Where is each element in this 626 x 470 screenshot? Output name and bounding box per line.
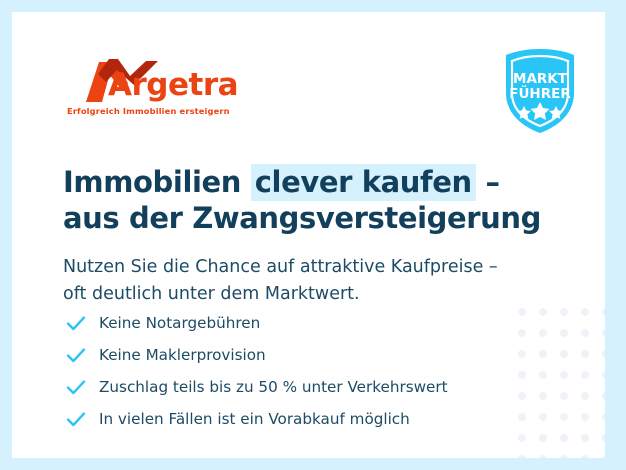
decorative-dot: [602, 434, 605, 442]
headline-text-after: –: [476, 165, 500, 199]
decorative-dot: [602, 455, 605, 458]
decorative-dot: [539, 329, 547, 337]
list-item: Keine Maklerprovision: [66, 341, 526, 369]
decorative-dot: [581, 455, 589, 458]
subheadline-line-2: oft deutlich unter dem Marktwert.: [63, 281, 573, 308]
decorative-dot: [560, 371, 568, 379]
shield-badge-icon: MARKT FÜHRER: [501, 47, 579, 135]
subheadline-line-1: Nutzen Sie die Chance auf attraktive Kau…: [63, 254, 573, 281]
list-item-label: In vielen Fällen ist ein Vorabkauf mögli…: [92, 410, 410, 428]
list-item-label: Keine Notargebühren: [92, 314, 260, 332]
decorative-dot: [560, 434, 568, 442]
decorative-dot: [581, 413, 589, 421]
headline-highlight: clever kaufen: [251, 164, 476, 201]
decorative-dot: [581, 350, 589, 358]
decorative-dot: [560, 329, 568, 337]
decorative-dot: [581, 392, 589, 400]
argetra-wordmark: Argetra: [108, 70, 238, 101]
page-title: Immobilien clever kaufen – aus der Zwang…: [63, 165, 563, 236]
decorative-dot: [602, 350, 605, 358]
decorative-dot: [602, 371, 605, 379]
list-item: Zuschlag teils bis zu 50 % unter Verkehr…: [66, 373, 526, 401]
decorative-dot: [518, 455, 526, 458]
decorative-dot: [581, 308, 589, 316]
decorative-dot: [581, 371, 589, 379]
list-item: Keine Notargebühren: [66, 309, 526, 337]
decorative-dot: [539, 413, 547, 421]
decorative-dot: [560, 455, 568, 458]
promo-banner: Argetra Erfolgreich Immobilien ersteiger…: [0, 0, 626, 470]
dot-pattern-decoration: [518, 308, 605, 458]
check-icon: [66, 315, 92, 332]
decorative-dot: [602, 329, 605, 337]
argetra-logo[interactable]: Argetra Erfolgreich Immobilien ersteiger…: [66, 56, 266, 118]
decorative-dot: [560, 350, 568, 358]
headline-line-2: aus der Zwangsversteigerung: [63, 201, 563, 236]
decorative-dot: [602, 392, 605, 400]
decorative-dot: [539, 350, 547, 358]
list-item-label: Keine Maklerprovision: [92, 346, 266, 364]
headline-line-1: Immobilien clever kaufen –: [63, 165, 563, 200]
badge-line1: MARKT: [513, 71, 568, 87]
check-icon: [66, 411, 92, 428]
decorative-dot: [560, 413, 568, 421]
benefits-checklist: Keine Notargebühren Keine Maklerprovisio…: [66, 309, 526, 437]
check-icon: [66, 379, 92, 396]
subheadline: Nutzen Sie die Chance auf attraktive Kau…: [63, 254, 573, 308]
badge-line2: FÜHRER: [509, 84, 571, 102]
decorative-dot: [539, 392, 547, 400]
decorative-dot: [560, 308, 568, 316]
list-item: In vielen Fällen ist ein Vorabkauf mögli…: [66, 405, 526, 433]
decorative-dot: [602, 413, 605, 421]
decorative-dot: [581, 434, 589, 442]
decorative-dot: [539, 308, 547, 316]
decorative-dot: [581, 329, 589, 337]
decorative-dot: [539, 371, 547, 379]
decorative-dot: [602, 308, 605, 316]
argetra-tagline: Erfolgreich Immobilien ersteigern: [67, 106, 230, 116]
check-icon: [66, 347, 92, 364]
decorative-dot: [539, 455, 547, 458]
decorative-dot: [539, 434, 547, 442]
promo-card: Argetra Erfolgreich Immobilien ersteiger…: [12, 12, 605, 458]
list-item-label: Zuschlag teils bis zu 50 % unter Verkehr…: [92, 378, 448, 396]
markt-fuehrer-badge: MARKT FÜHRER: [501, 47, 579, 135]
decorative-dot: [560, 392, 568, 400]
headline-text-before: Immobilien: [63, 165, 251, 199]
